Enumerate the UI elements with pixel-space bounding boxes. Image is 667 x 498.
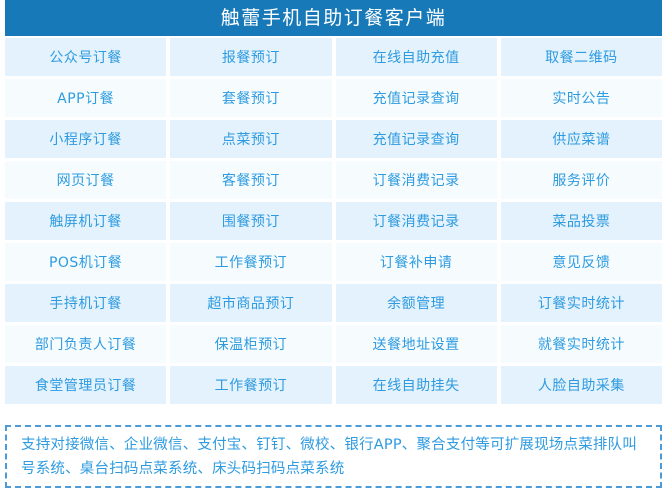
feature-cell[interactable]: 在线自助充值: [336, 38, 497, 76]
feature-cell[interactable]: 围餐预订: [170, 202, 331, 240]
feature-cell[interactable]: 部门负责人订餐: [5, 325, 166, 363]
feature-row: 手持机订餐超市商品预订余额管理订餐实时统计: [5, 284, 662, 322]
feature-cell[interactable]: 服务评价: [501, 161, 662, 199]
feature-cell[interactable]: 送餐地址设置: [336, 325, 497, 363]
feature-cell[interactable]: 充值记录查询: [336, 79, 497, 117]
feature-row: 触屏机订餐围餐预订订餐消费记录菜品投票: [5, 202, 662, 240]
feature-cell[interactable]: 菜品投票: [501, 202, 662, 240]
feature-cell[interactable]: 保温柜预订: [170, 325, 331, 363]
feature-cell[interactable]: 套餐预订: [170, 79, 331, 117]
feature-cell[interactable]: 就餐实时统计: [501, 325, 662, 363]
feature-cell[interactable]: 小程序订餐: [5, 120, 166, 158]
feature-cell[interactable]: 触屏机订餐: [5, 202, 166, 240]
feature-row: 网页订餐客餐预订订餐消费记录服务评价: [5, 161, 662, 199]
feature-cell[interactable]: 订餐实时统计: [501, 284, 662, 322]
feature-cell[interactable]: 供应菜谱: [501, 120, 662, 158]
feature-cell[interactable]: POS机订餐: [5, 243, 166, 281]
feature-cell[interactable]: 余额管理: [336, 284, 497, 322]
page-title: 触蕾手机自助订餐客户端: [221, 9, 447, 28]
feature-cell[interactable]: 网页订餐: [5, 161, 166, 199]
feature-cell[interactable]: 人脸自助采集: [501, 366, 662, 404]
feature-cell[interactable]: 订餐消费记录: [336, 202, 497, 240]
feature-cell[interactable]: APP订餐: [5, 79, 166, 117]
footer-note-box: 支持对接微信、企业微信、支付宝、钉钉、微校、银行APP、聚合支付等可扩展现场点菜…: [5, 425, 662, 488]
feature-cell[interactable]: 取餐二维码: [501, 38, 662, 76]
feature-cell[interactable]: 工作餐预订: [170, 243, 331, 281]
feature-row: 食堂管理员订餐工作餐预订在线自助挂失人脸自助采集: [5, 366, 662, 404]
feature-cell[interactable]: 在线自助挂失: [336, 366, 497, 404]
footer-note-text: 支持对接微信、企业微信、支付宝、钉钉、微校、银行APP、聚合支付等可扩展现场点菜…: [21, 433, 646, 481]
feature-cell[interactable]: 工作餐预订: [170, 366, 331, 404]
feature-cell[interactable]: 意见反馈: [501, 243, 662, 281]
feature-grid: 公众号订餐报餐预订在线自助充值取餐二维码APP订餐套餐预订充值记录查询实时公告小…: [5, 38, 662, 404]
feature-cell[interactable]: 实时公告: [501, 79, 662, 117]
app-root: 触蕾手机自助订餐客户端 公众号订餐报餐预订在线自助充值取餐二维码APP订餐套餐预…: [0, 0, 667, 498]
feature-cell[interactable]: 超市商品预订: [170, 284, 331, 322]
feature-row: 公众号订餐报餐预订在线自助充值取餐二维码: [5, 38, 662, 76]
feature-cell[interactable]: 点菜预订: [170, 120, 331, 158]
feature-cell[interactable]: 报餐预订: [170, 38, 331, 76]
feature-row: POS机订餐工作餐预订订餐补申请意见反馈: [5, 243, 662, 281]
app-header: 触蕾手机自助订餐客户端: [5, 0, 662, 36]
feature-cell[interactable]: 公众号订餐: [5, 38, 166, 76]
feature-cell[interactable]: 食堂管理员订餐: [5, 366, 166, 404]
feature-cell[interactable]: 手持机订餐: [5, 284, 166, 322]
feature-row: 部门负责人订餐保温柜预订送餐地址设置就餐实时统计: [5, 325, 662, 363]
feature-cell[interactable]: 订餐补申请: [336, 243, 497, 281]
feature-cell[interactable]: 充值记录查询: [336, 120, 497, 158]
feature-cell[interactable]: 订餐消费记录: [336, 161, 497, 199]
feature-cell[interactable]: 客餐预订: [170, 161, 331, 199]
feature-row: 小程序订餐点菜预订充值记录查询供应菜谱: [5, 120, 662, 158]
feature-row: APP订餐套餐预订充值记录查询实时公告: [5, 79, 662, 117]
